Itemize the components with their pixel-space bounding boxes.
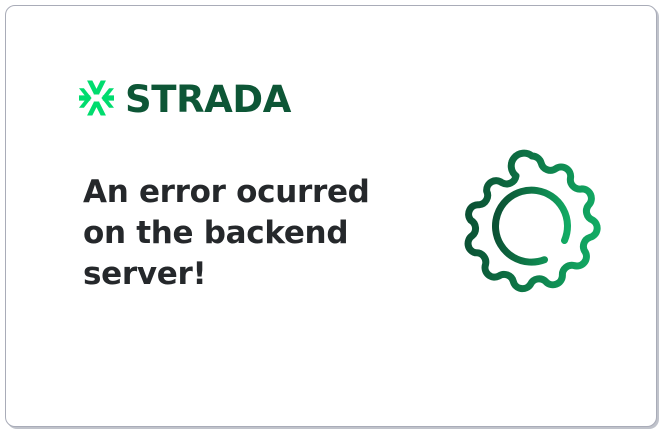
brand-wordmark: STRADA	[125, 81, 291, 118]
gear-icon	[452, 146, 612, 306]
brand-logo: STRADA	[79, 76, 291, 120]
error-card: STRADA An error ocurred on the backend s…	[5, 5, 657, 427]
strada-asterisk-icon	[79, 80, 114, 116]
error-message: An error ocurred on the backend server!	[83, 172, 383, 295]
screen: STRADA An error ocurred on the backend s…	[0, 0, 666, 436]
